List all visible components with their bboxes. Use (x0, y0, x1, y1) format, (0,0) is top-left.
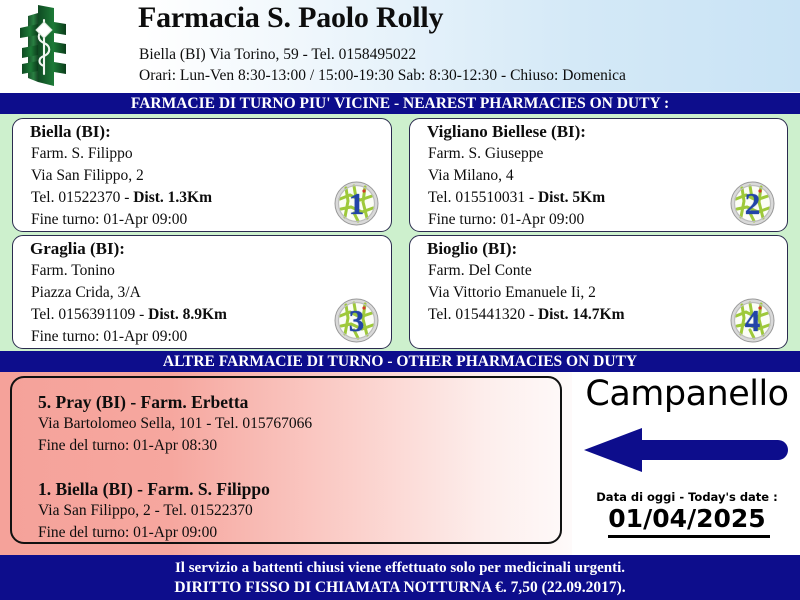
today-date-label: Data di oggi - Today's date : (578, 490, 796, 504)
card-street: Piazza Crida, 3/A (31, 284, 141, 302)
map-marker-badge-icon: 4 (730, 298, 775, 343)
card-town: Vigliano Biellese (BI): (427, 122, 586, 142)
pharmacy-hours: Orari: Lun-Ven 8:30-13:00 / 15:00-19:30 … (139, 67, 626, 85)
card-tel: Tel. 015441320 - (428, 306, 538, 323)
pharmacy-card[interactable]: Bioglio (BI): Farm. Del Conte Via Vittor… (409, 235, 788, 349)
map-marker-badge-icon: 3 (334, 298, 379, 343)
card-street: Via Vittorio Emanuele Ii, 2 (428, 284, 596, 302)
card-distance: Dist. 5Km (538, 189, 605, 206)
header: Farmacia S. Paolo Rolly Biella (BI) Via … (0, 0, 800, 92)
banner-nearest-pharmacies: FARMACIE DI TURNO PIU' VICINE - NEAREST … (0, 93, 800, 115)
other-pharmacies-card[interactable]: 5. Pray (BI) - Farm. Erbetta Via Bartolo… (10, 376, 562, 544)
footer-line-2: DIRITTO FISSO DI CHIAMATA NOTTURNA €. 7,… (0, 579, 800, 597)
card-distance: Dist. 8.9Km (148, 306, 227, 323)
map-marker-badge-icon: 1 (334, 181, 379, 226)
card-street: Via San Filippo, 2 (31, 167, 144, 185)
card-pharmacy-name: Farm. Tonino (31, 262, 115, 280)
card-end-shift: Fine turno: 01-Apr 09:00 (31, 211, 187, 229)
pharmacy-cross-caduceus-logo-icon (14, 2, 76, 90)
other-entry-title: 1. Biella (BI) - Farm. S. Filippo (38, 479, 270, 500)
card-end-shift: Fine turno: 01-Apr 09:00 (31, 328, 187, 346)
nearest-pharmacies-grid: Biella (BI): Farm. S. Filippo Via San Fi… (0, 114, 800, 351)
card-pharmacy-name: Farm. S. Giuseppe (428, 145, 543, 163)
card-tel-dist: Tel. 0156391109 - Dist. 8.9Km (31, 306, 227, 324)
footer-line-1: Il servizio a battenti chiusi viene effe… (0, 560, 800, 577)
pharmacy-duty-display: Farmacia S. Paolo Rolly Biella (BI) Via … (0, 0, 800, 600)
banner-other-pharmacies: ALTRE FARMACIE DI TURNO - OTHER PHARMACI… (0, 351, 800, 373)
other-entry-endshift: Fine del turno: 01-Apr 08:30 (38, 437, 217, 455)
other-entry-title: 5. Pray (BI) - Farm. Erbetta (38, 392, 248, 413)
other-pharmacies-panel: 5. Pray (BI) - Farm. Erbetta Via Bartolo… (0, 372, 572, 555)
card-end-shift: Fine turno: 01-Apr 09:00 (428, 211, 584, 229)
other-pharmacies-section: 5. Pray (BI) - Farm. Erbetta Via Bartolo… (0, 372, 800, 555)
badge-number: 1 (334, 181, 379, 226)
card-pharmacy-name: Farm. S. Filippo (31, 145, 133, 163)
card-tel-dist: Tel. 015510031 - Dist. 5Km (428, 189, 605, 207)
card-tel: Tel. 01522370 - (31, 189, 133, 206)
pharmacy-card[interactable]: Vigliano Biellese (BI): Farm. S. Giusepp… (409, 118, 788, 232)
pharmacy-card[interactable]: Graglia (BI): Farm. Tonino Piazza Crida,… (12, 235, 392, 349)
other-entry-address: Via San Filippo, 2 - Tel. 01522370 (38, 502, 253, 520)
card-pharmacy-name: Farm. Del Conte (428, 262, 532, 280)
left-arrow-icon (580, 427, 788, 473)
today-date-value: 01/04/2025 (578, 504, 796, 533)
page-title: Farmacia S. Paolo Rolly (138, 1, 443, 35)
card-tel: Tel. 0156391109 - (31, 306, 148, 323)
other-entry-endshift: Fine del turno: 01-Apr 09:00 (38, 524, 217, 542)
badge-number: 2 (730, 181, 775, 226)
doorbell-label: Campanello (578, 374, 796, 414)
card-street: Via Milano, 4 (428, 167, 514, 185)
card-tel-dist: Tel. 015441320 - Dist. 14.7Km (428, 306, 625, 324)
pharmacy-card[interactable]: Biella (BI): Farm. S. Filippo Via San Fi… (12, 118, 392, 232)
card-town: Graglia (BI): (30, 239, 125, 259)
card-distance: Dist. 14.7Km (538, 306, 625, 323)
other-entry-address: Via Bartolomeo Sella, 101 - Tel. 0157670… (38, 415, 312, 433)
card-distance: Dist. 1.3Km (133, 189, 212, 206)
badge-number: 3 (334, 298, 379, 343)
footer: Il servizio a battenti chiusi viene effe… (0, 555, 800, 600)
badge-number: 4 (730, 298, 775, 343)
date-underline-divider (608, 535, 770, 538)
card-town: Bioglio (BI): (427, 239, 517, 259)
card-tel-dist: Tel. 01522370 - Dist. 1.3Km (31, 189, 212, 207)
pharmacy-address: Biella (BI) Via Torino, 59 - Tel. 015849… (139, 46, 416, 64)
card-town: Biella (BI): (30, 122, 111, 142)
map-marker-badge-icon: 2 (730, 181, 775, 226)
card-tel: Tel. 015510031 - (428, 189, 538, 206)
